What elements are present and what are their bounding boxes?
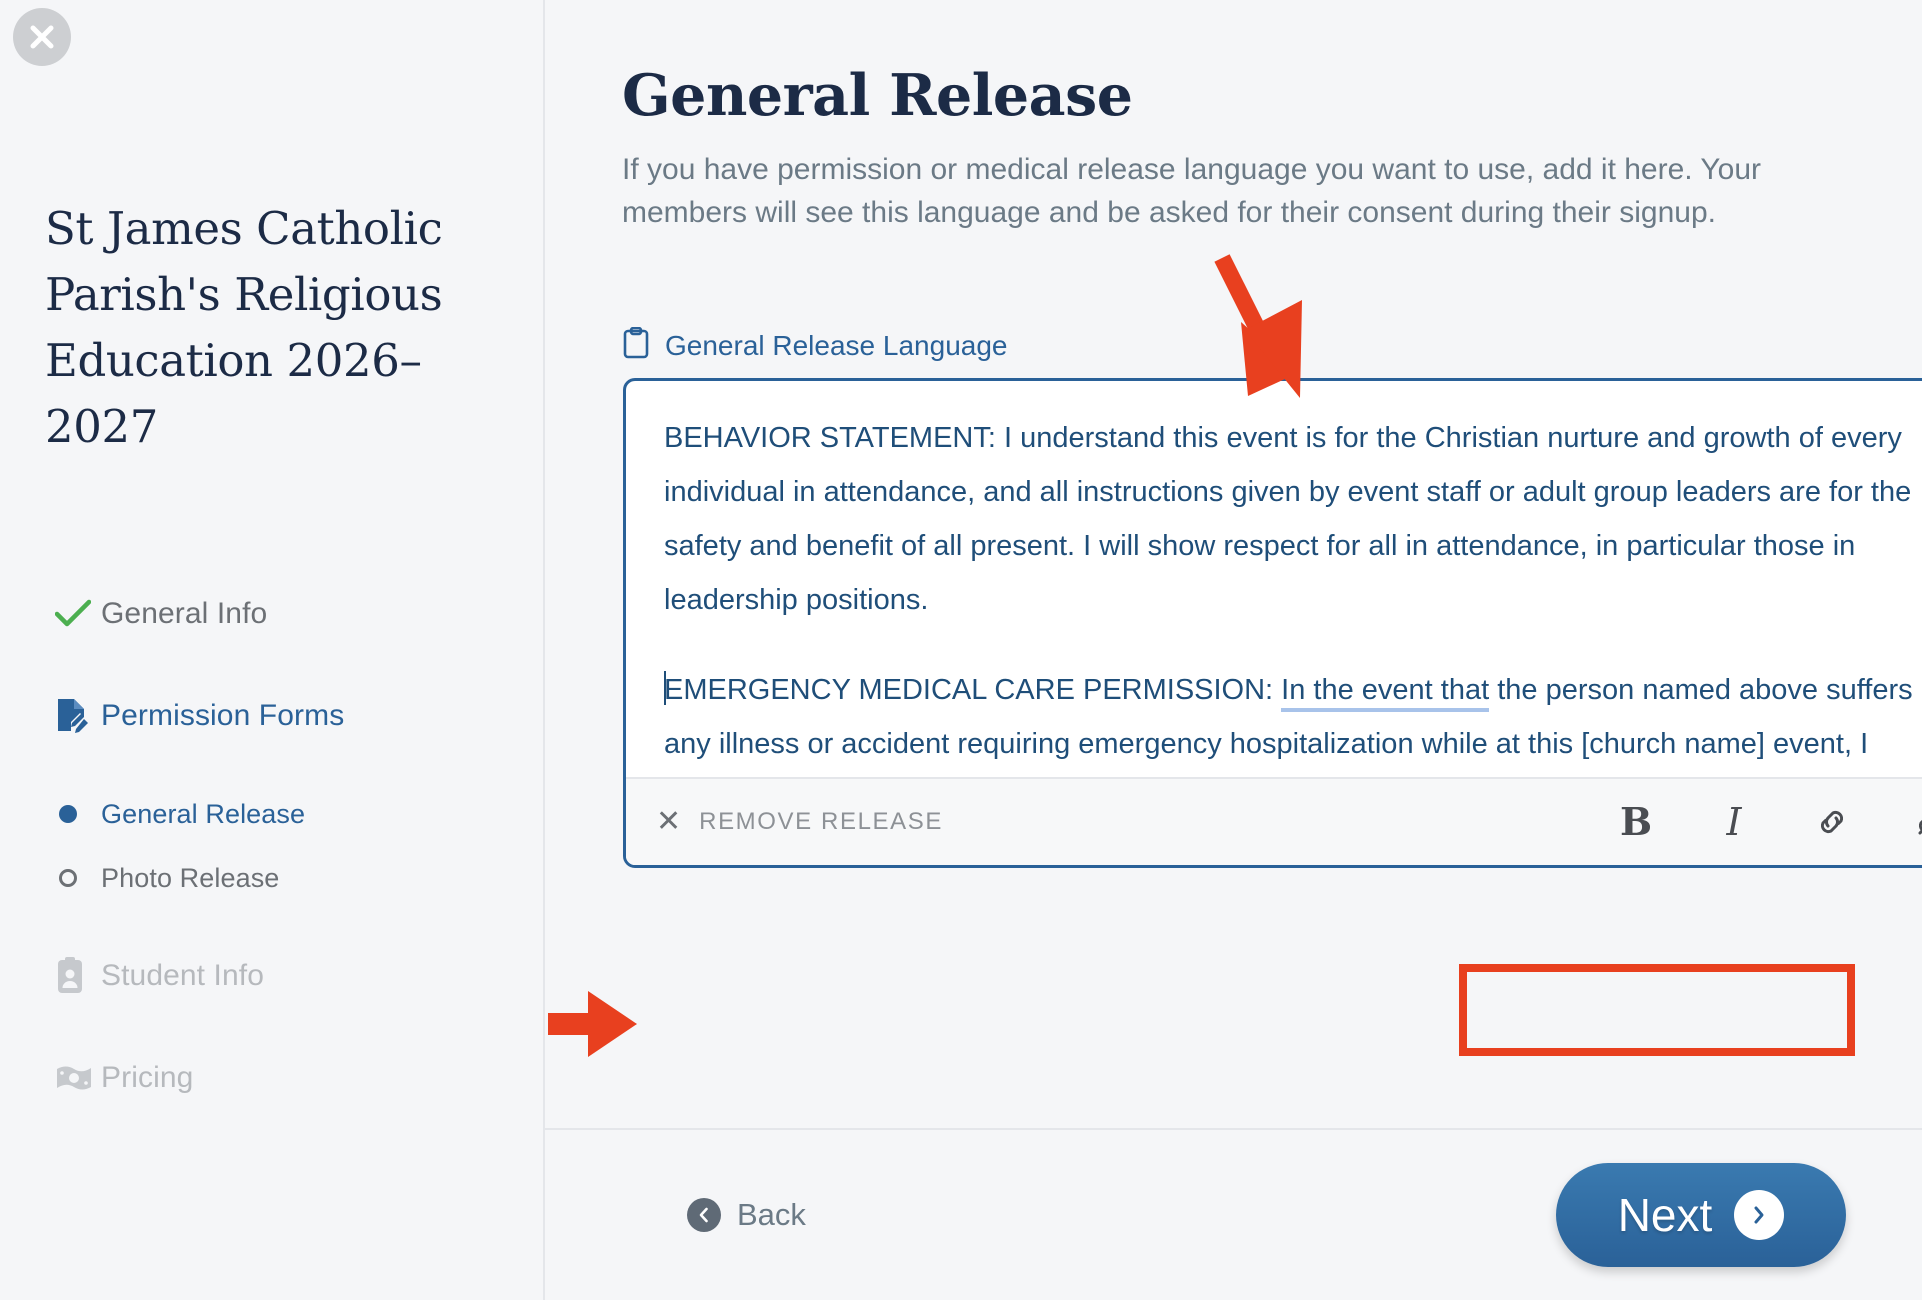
link-button[interactable] — [1812, 800, 1852, 844]
chevron-left-icon — [687, 1198, 721, 1232]
field-label-text: General Release Language — [665, 330, 1007, 362]
remove-release-label: REMOVE RELEASE — [699, 808, 943, 836]
link-icon — [1813, 803, 1851, 841]
check-icon — [55, 599, 101, 629]
page-description: If you have permission or medical releas… — [622, 148, 1872, 234]
unlink-icon — [1911, 803, 1922, 841]
clipboard-icon — [623, 327, 649, 364]
banknote-icon — [55, 1064, 101, 1092]
document-edit-icon — [55, 697, 101, 735]
hollow-dot-icon — [55, 869, 101, 887]
sidebar-item-pricing[interactable]: Pricing — [55, 1052, 525, 1104]
sidebar-item-label: Permission Forms — [101, 699, 344, 733]
editor-text-area[interactable]: BEHAVIOR STATEMENT: I understand this ev… — [626, 381, 1922, 783]
italic-button[interactable]: I — [1714, 800, 1754, 844]
footer-divider — [545, 1128, 1922, 1130]
sidebar: St James Catholic Parish's Religious Edu… — [0, 0, 545, 1300]
close-icon[interactable] — [13, 8, 71, 66]
back-label: Back — [737, 1197, 806, 1233]
id-badge-icon — [55, 957, 101, 995]
sidebar-item-general-info[interactable]: General Info — [55, 588, 525, 640]
release-language-editor[interactable]: BEHAVIOR STATEMENT: I understand this ev… — [623, 378, 1922, 868]
sidebar-item-general-release[interactable]: General Release — [55, 792, 525, 836]
editor-paragraph-1: BEHAVIOR STATEMENT: I understand this ev… — [664, 411, 1922, 627]
editor-p2-underline-1: In the event that — [1281, 674, 1489, 712]
remove-release-button[interactable]: ✕ REMOVE RELEASE — [656, 807, 943, 837]
editor-paragraph-2: EMERGENCY MEDICAL CARE PERMISSION: In th… — [664, 663, 1922, 783]
editor-toolbar: ✕ REMOVE RELEASE B I — [626, 777, 1922, 865]
chevron-right-icon — [1734, 1190, 1784, 1240]
next-button[interactable]: Next — [1556, 1163, 1846, 1267]
sidebar-item-label: Pricing — [101, 1061, 193, 1095]
permission-forms-wizard: St James Catholic Parish's Religious Edu… — [0, 0, 1922, 1300]
formatting-buttons: B I — [1616, 800, 1922, 844]
wizard-nav: General Info Permission Forms Ge — [55, 588, 525, 1154]
editor-paragraph-spacer — [664, 627, 1922, 663]
field-label-row: General Release Language — [623, 327, 1007, 364]
filled-dot-icon — [55, 805, 101, 823]
editor-p2-part-1: EMERGENCY MEDICAL CARE PERMISSION: — [664, 674, 1281, 706]
sidebar-item-label: Photo Release — [101, 863, 279, 894]
sidebar-item-label: Student Info — [101, 959, 264, 993]
page-title: General Release — [622, 62, 1132, 129]
brand-title: St James Catholic Parish's Religious Edu… — [45, 196, 505, 460]
close-x-icon: ✕ — [656, 807, 681, 837]
sidebar-item-student-info[interactable]: Student Info — [55, 950, 525, 1002]
sidebar-item-photo-release[interactable]: Photo Release — [55, 856, 525, 900]
sidebar-item-label: General Info — [101, 597, 267, 631]
italic-icon: I — [1726, 803, 1741, 841]
next-label: Next — [1618, 1188, 1713, 1242]
bold-icon: B — [1620, 803, 1652, 841]
bold-button[interactable]: B — [1616, 800, 1656, 844]
sidebar-item-permission-forms[interactable]: Permission Forms — [55, 690, 525, 742]
main-content: General Release If you have permission o… — [545, 0, 1922, 1300]
unlink-button[interactable] — [1910, 800, 1922, 844]
sidebar-item-label: General Release — [101, 799, 305, 830]
back-button[interactable]: Back — [687, 1197, 806, 1233]
